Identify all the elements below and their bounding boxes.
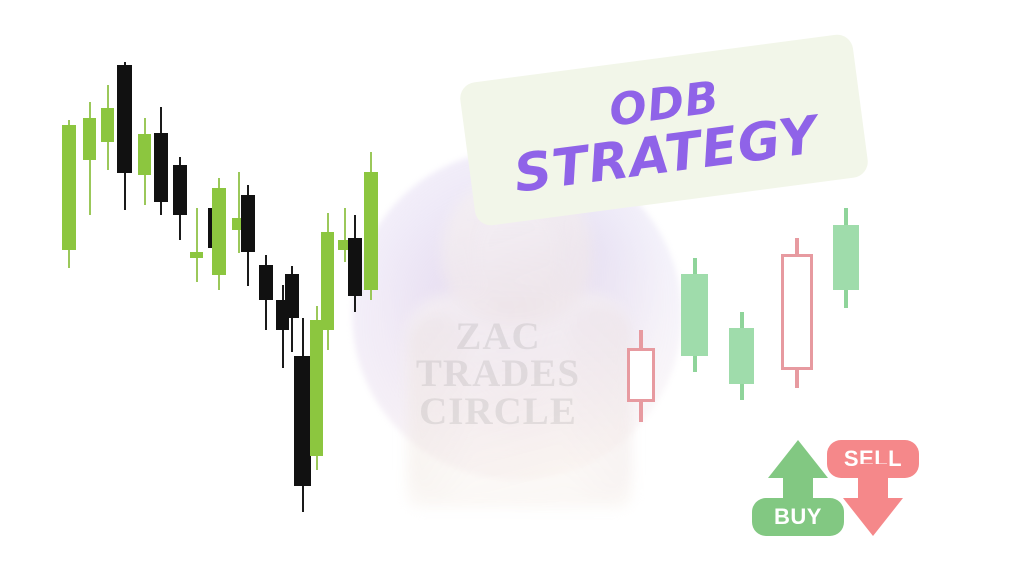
candlestick-left-price-action-7: [173, 157, 187, 240]
candle-body: [154, 133, 168, 202]
candle-body: [833, 225, 859, 290]
candlestick-left-price-action-4: [117, 62, 132, 210]
candle-body: [294, 356, 311, 486]
candle-body: [62, 125, 76, 250]
candlestick-left-price-action-12: [241, 185, 255, 286]
candlestick-left-price-action-18: [321, 213, 334, 350]
hoodie-body: [406, 293, 632, 508]
page-title: ODB STRATEGY: [463, 37, 868, 227]
candlestick-right-pattern-5: [833, 208, 859, 308]
candlestick-left-price-action-10: [212, 178, 226, 290]
candle-body: [781, 254, 813, 370]
candlestick-left-price-action-2: [83, 102, 96, 215]
candlestick-left-price-action-13: [259, 255, 273, 330]
screenshot-canvas: ZAC TRADES CIRCLE ODB STRATEGY BUY SELL: [0, 0, 1024, 576]
hoodie-person-photo: [400, 175, 640, 505]
candle-wick: [238, 172, 240, 253]
candlestick-right-pattern-4: [781, 238, 813, 388]
candle-body: [348, 238, 362, 296]
candle-body: [101, 108, 114, 142]
candlestick-left-price-action-16: [294, 318, 311, 512]
candle-body: [173, 165, 187, 215]
candlestick-left-price-action-3: [101, 85, 114, 170]
candle-body: [241, 195, 255, 252]
candle-body: [681, 274, 708, 356]
candlestick-left-price-action-1: [62, 120, 76, 268]
sell-arrow-down-icon: [843, 498, 903, 536]
candlestick-left-price-action-8: [190, 208, 203, 282]
candle-wick: [196, 208, 198, 282]
candlestick-right-pattern-1: [627, 330, 655, 422]
candle-body: [138, 134, 151, 175]
candlestick-left-price-action-6: [154, 107, 168, 215]
watermark-line-3: CIRCLE: [408, 393, 588, 430]
candlestick-left-price-action-5: [138, 118, 151, 205]
candlestick-right-pattern-3: [729, 312, 754, 400]
candlestick-right-pattern-2: [681, 258, 708, 372]
watermark-line-2: TRADES: [408, 355, 588, 392]
candle-body: [729, 328, 754, 384]
candlestick-left-price-action-20: [348, 215, 362, 312]
candle-body: [117, 65, 132, 173]
hoodie-shadow-left: [410, 315, 468, 500]
candle-body: [83, 118, 96, 160]
candle-body: [190, 252, 203, 258]
watermark-line-1: ZAC: [408, 318, 588, 355]
sell-signal[interactable]: SELL: [827, 440, 919, 536]
sell-arrow-stem: [858, 464, 888, 500]
hoodie-shadow-right: [568, 307, 632, 499]
watermark: ZAC TRADES CIRCLE: [408, 318, 588, 430]
candlestick-left-price-action-21: [364, 152, 378, 300]
candle-body: [285, 274, 299, 318]
candle-body: [259, 265, 273, 300]
candle-wick: [344, 208, 346, 262]
candle-body: [627, 348, 655, 402]
buy-arrow-up-icon: [768, 440, 828, 478]
candle-body: [321, 232, 334, 330]
candle-body: [212, 188, 226, 275]
candle-body: [364, 172, 378, 290]
